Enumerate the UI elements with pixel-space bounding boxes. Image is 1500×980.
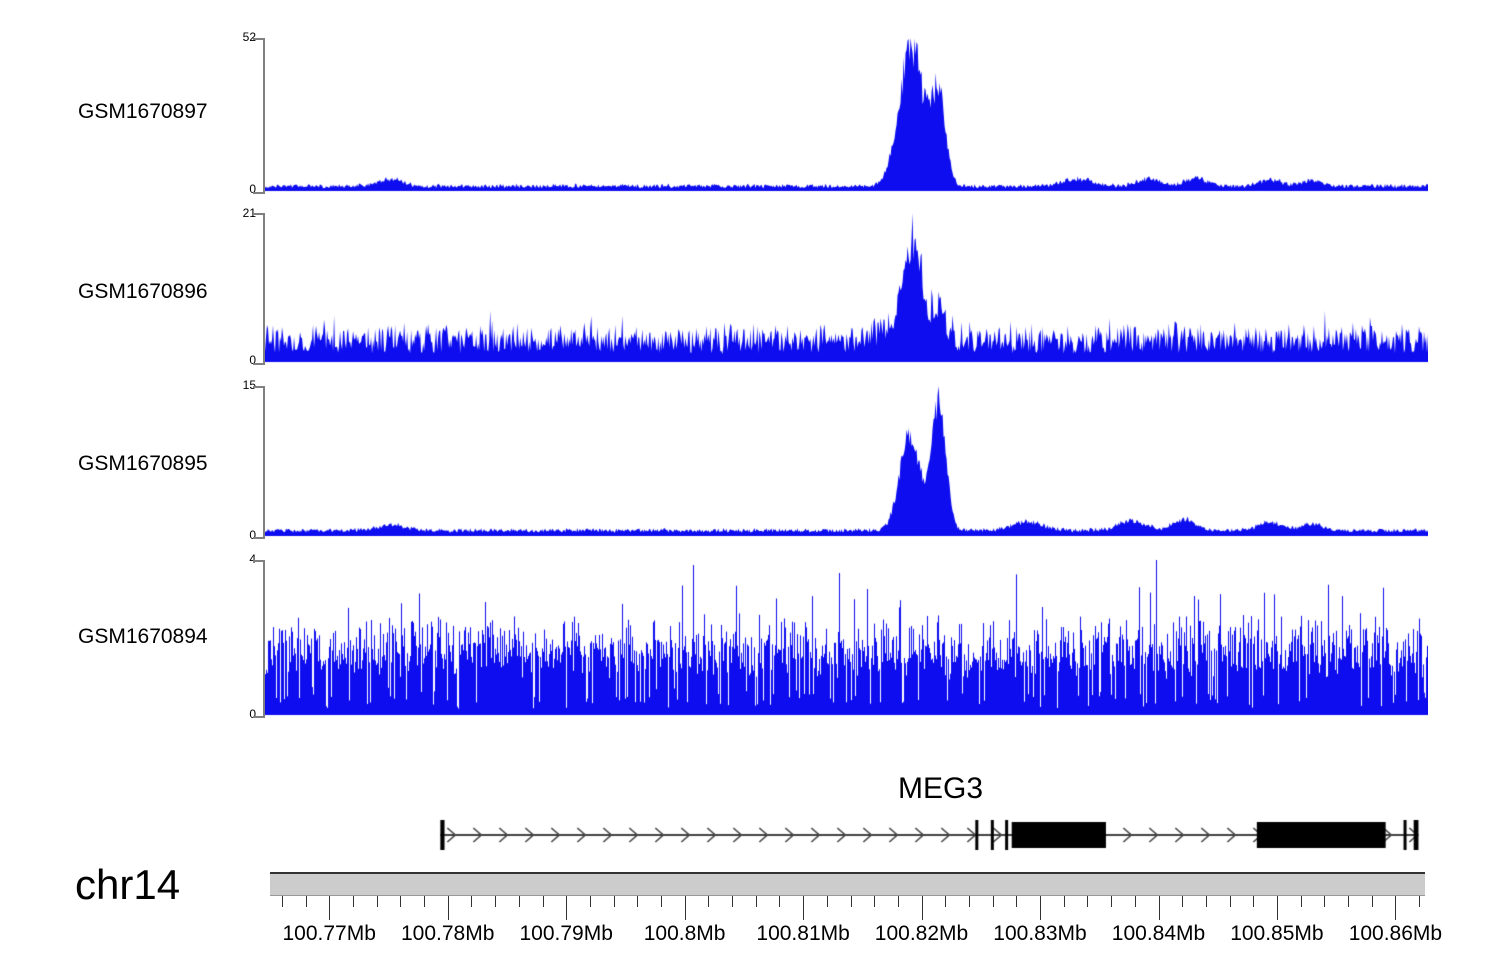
- ruler-minor-tick: [827, 896, 828, 907]
- axis-tick-top-4: [253, 560, 265, 562]
- ruler-minor-tick: [1064, 896, 1065, 907]
- ruler-minor-tick: [1135, 896, 1136, 907]
- track-label-4: GSM1670894: [78, 625, 208, 649]
- ruler-label: 100.79Mb: [501, 922, 631, 946]
- ruler-minor-tick: [353, 896, 354, 907]
- ruler-minor-tick: [851, 896, 852, 907]
- ruler-minor-tick: [1372, 896, 1373, 907]
- axis-max-2: 21: [228, 206, 256, 220]
- axis-min-4: 0: [228, 707, 256, 721]
- ruler-minor-tick: [1111, 896, 1112, 907]
- ruler-minor-tick: [874, 896, 875, 907]
- ruler-major-tick: [329, 896, 330, 920]
- ruler-minor-tick: [1182, 896, 1183, 907]
- ruler-minor-tick: [945, 896, 946, 907]
- ruler-label: 100.78Mb: [383, 922, 513, 946]
- ruler-label: 100.8Mb: [620, 922, 750, 946]
- ruler-label: 100.85Mb: [1212, 922, 1342, 946]
- signal-plot-2: [265, 209, 1428, 365]
- ruler-minor-tick: [519, 896, 520, 907]
- ruler-minor-tick: [424, 896, 425, 907]
- ruler-label: 100.83Mb: [975, 922, 1105, 946]
- axis-max-4: 4: [228, 552, 256, 566]
- signal-plot-4: [265, 556, 1428, 718]
- ruler-label: 100.77Mb: [264, 922, 394, 946]
- ruler-minor-tick: [1230, 896, 1231, 907]
- ruler-minor-tick: [637, 896, 638, 907]
- axis-max-1: 52: [228, 30, 256, 44]
- ruler-minor-tick: [969, 896, 970, 907]
- track-label-2: GSM1670896: [78, 280, 208, 304]
- axis-tick-top-1: [253, 38, 265, 40]
- ruler-major-tick: [448, 896, 449, 920]
- axis-tick-bottom-1: [253, 192, 265, 194]
- ruler-major-tick: [685, 896, 686, 920]
- track-label-3: GSM1670895: [78, 452, 208, 476]
- ruler-minor-tick: [1016, 896, 1017, 907]
- gene-model-meg3[interactable]: [265, 805, 1428, 865]
- ruler-minor-tick: [590, 896, 591, 907]
- ruler-minor-tick: [1324, 896, 1325, 907]
- ruler-minor-tick: [471, 896, 472, 907]
- ruler-label: 100.84Mb: [1094, 922, 1224, 946]
- genome-browser: GSM1670897 52 0 GSM1670896 21 0 GSM16708…: [0, 0, 1500, 980]
- ruler-major-tick: [1040, 896, 1041, 920]
- ruler-minor-tick: [282, 896, 283, 907]
- axis-tick-top-3: [253, 386, 265, 388]
- ruler-minor-tick: [1087, 896, 1088, 907]
- ruler-major-tick: [922, 896, 923, 920]
- signal-plot-1: [265, 34, 1428, 194]
- ruler-minor-tick: [495, 896, 496, 907]
- ruler-minor-tick: [543, 896, 544, 907]
- axis-max-3: 15: [228, 378, 256, 392]
- track-label-1: GSM1670897: [78, 100, 208, 124]
- ruler-minor-tick: [993, 896, 994, 907]
- axis-min-1: 0: [228, 182, 256, 196]
- axis-tick-bottom-2: [253, 363, 265, 365]
- ruler-minor-tick: [732, 896, 733, 907]
- ruler-label: 100.86Mb: [1330, 922, 1460, 946]
- chromosome-label: chr14: [75, 861, 180, 909]
- gene-name-label: MEG3: [898, 772, 983, 806]
- signal-plot-3: [265, 382, 1428, 539]
- ruler-major-tick: [1159, 896, 1160, 920]
- ruler-major-tick: [1395, 896, 1396, 920]
- ruler-minor-tick: [898, 896, 899, 907]
- ruler-major-tick: [1277, 896, 1278, 920]
- ruler-minor-tick: [1253, 896, 1254, 907]
- ruler-minor-tick: [1348, 896, 1349, 907]
- ruler-label: 100.82Mb: [857, 922, 987, 946]
- ruler-minor-tick: [708, 896, 709, 907]
- ruler-minor-tick: [400, 896, 401, 907]
- ruler-major-tick: [803, 896, 804, 920]
- ruler-minor-tick: [614, 896, 615, 907]
- ruler-minor-tick: [1206, 896, 1207, 907]
- ruler-minor-tick: [1419, 896, 1420, 907]
- axis-tick-bottom-4: [253, 716, 265, 718]
- ruler-major-tick: [566, 896, 567, 920]
- ruler-minor-tick: [377, 896, 378, 907]
- axis-min-3: 0: [228, 528, 256, 542]
- ideogram-bar[interactable]: [270, 872, 1425, 896]
- ruler-minor-tick: [756, 896, 757, 907]
- ruler-minor-tick: [306, 896, 307, 907]
- axis-tick-top-2: [253, 213, 265, 215]
- axis-min-2: 0: [228, 353, 256, 367]
- ruler-minor-tick: [779, 896, 780, 907]
- axis-tick-bottom-3: [253, 537, 265, 539]
- ruler-minor-tick: [1301, 896, 1302, 907]
- ruler-label: 100.81Mb: [738, 922, 868, 946]
- ruler-minor-tick: [661, 896, 662, 907]
